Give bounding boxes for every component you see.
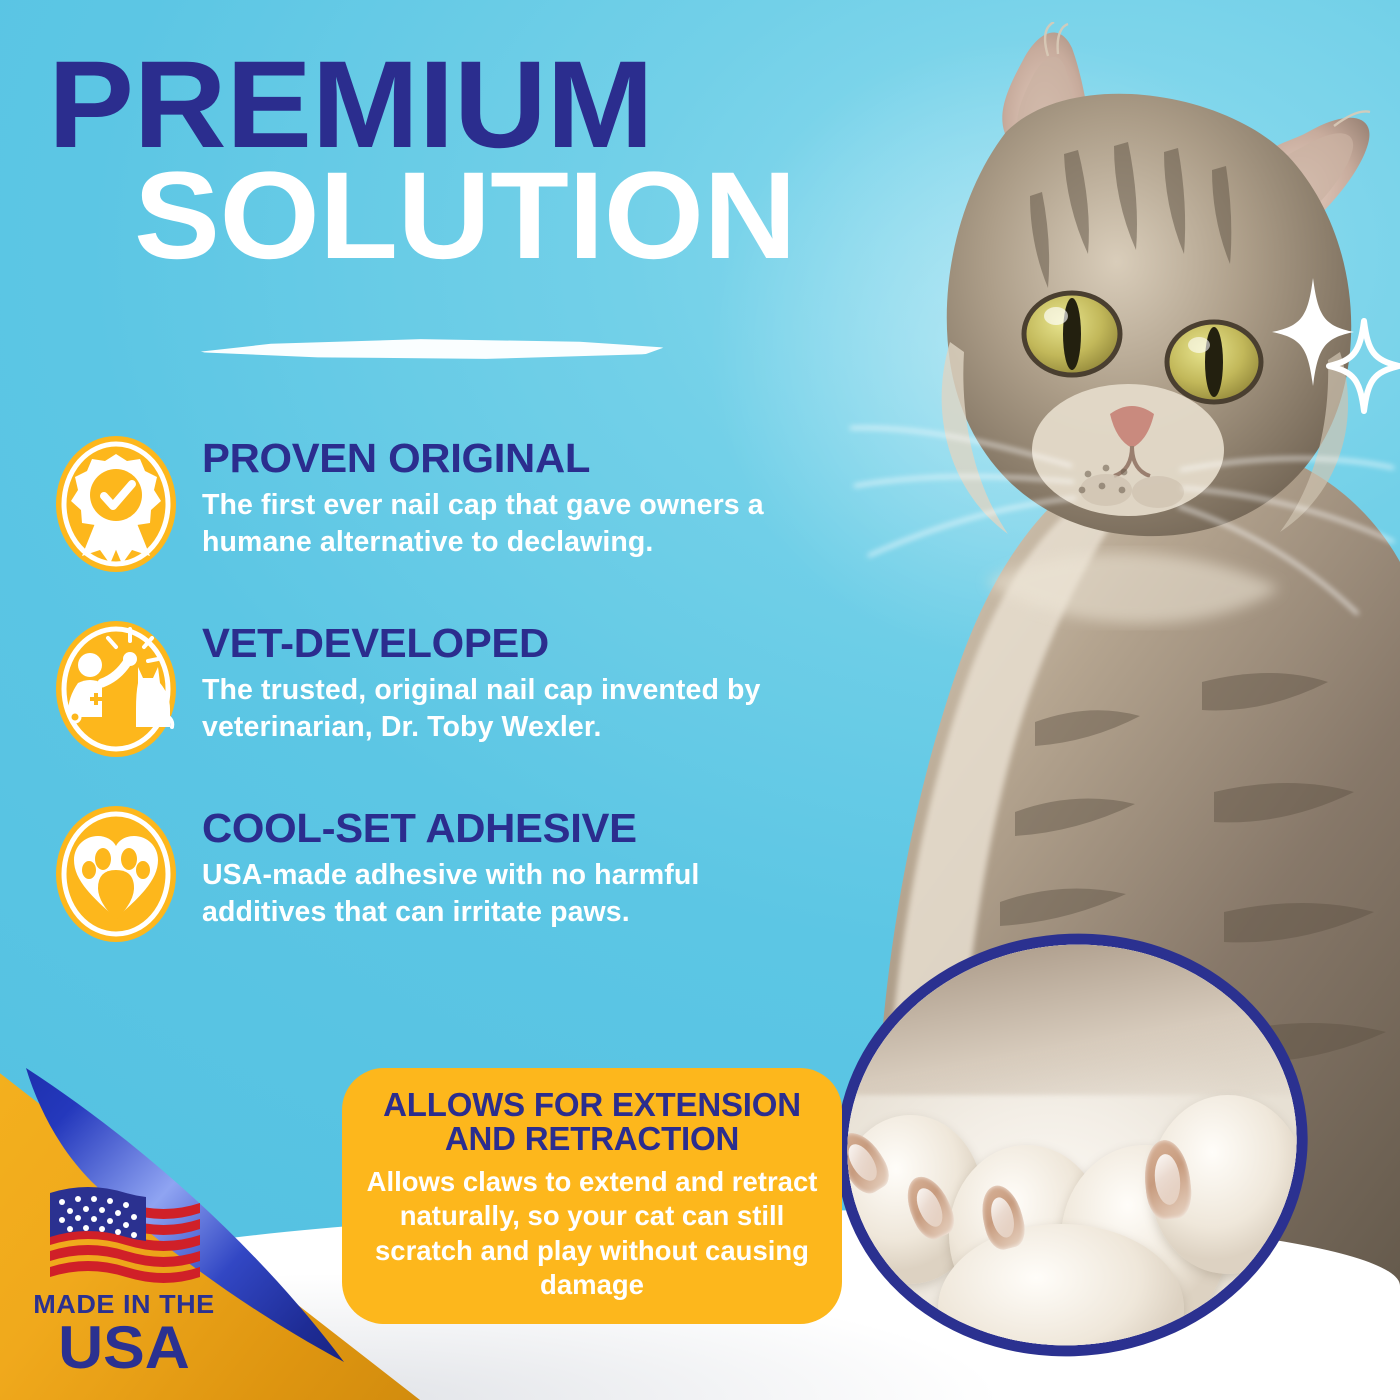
feature-title: PROVEN ORIGINAL — [202, 438, 834, 479]
feature-item-vet-developed: VET-DEVELOPED The trusted, original nail… — [52, 617, 822, 762]
callout-extension-retraction: ALLOWS FOR EXTENSION AND RETRACTION Allo… — [342, 1068, 842, 1324]
callout-body: Allows claws to extend and retract natur… — [364, 1165, 820, 1301]
headline-line-2: SOLUTION — [134, 163, 835, 270]
feature-item-cool-set-adhesive: COOL-SET ADHESIVE USA-made adhesive with… — [52, 802, 822, 947]
cat-paw-with-nail-caps-photo — [812, 907, 1332, 1383]
vet-high-five-cat-icon — [52, 617, 180, 762]
made-in-usa-badge: MADE IN THE USA — [24, 1187, 224, 1376]
feature-list: PROVEN ORIGINAL The first ever nail cap … — [52, 432, 822, 987]
feature-description: The trusted, original nail cap invented … — [202, 672, 822, 746]
feature-description: USA-made adhesive with no harmful additi… — [202, 857, 822, 931]
feature-description: The first ever nail cap that gave owners… — [202, 487, 822, 561]
product-infographic: PREMIUM SOLUTION PROVEN ORIGINAL The fir — [0, 0, 1400, 1400]
usa-flag-icon — [48, 1187, 200, 1283]
feature-title: COOL-SET ADHESIVE — [202, 808, 834, 849]
made-in-usa-line-2: USA — [20, 1319, 228, 1376]
heart-paw-icon — [52, 802, 180, 947]
page-title: PREMIUM SOLUTION — [48, 52, 808, 269]
award-ribbon-check-icon — [52, 432, 180, 577]
callout-title: ALLOWS FOR EXTENSION AND RETRACTION — [364, 1088, 820, 1155]
feature-title: VET-DEVELOPED — [202, 623, 834, 664]
headline-line-1: PREMIUM — [48, 52, 838, 159]
feature-item-proven-original: PROVEN ORIGINAL The first ever nail cap … — [52, 432, 822, 577]
